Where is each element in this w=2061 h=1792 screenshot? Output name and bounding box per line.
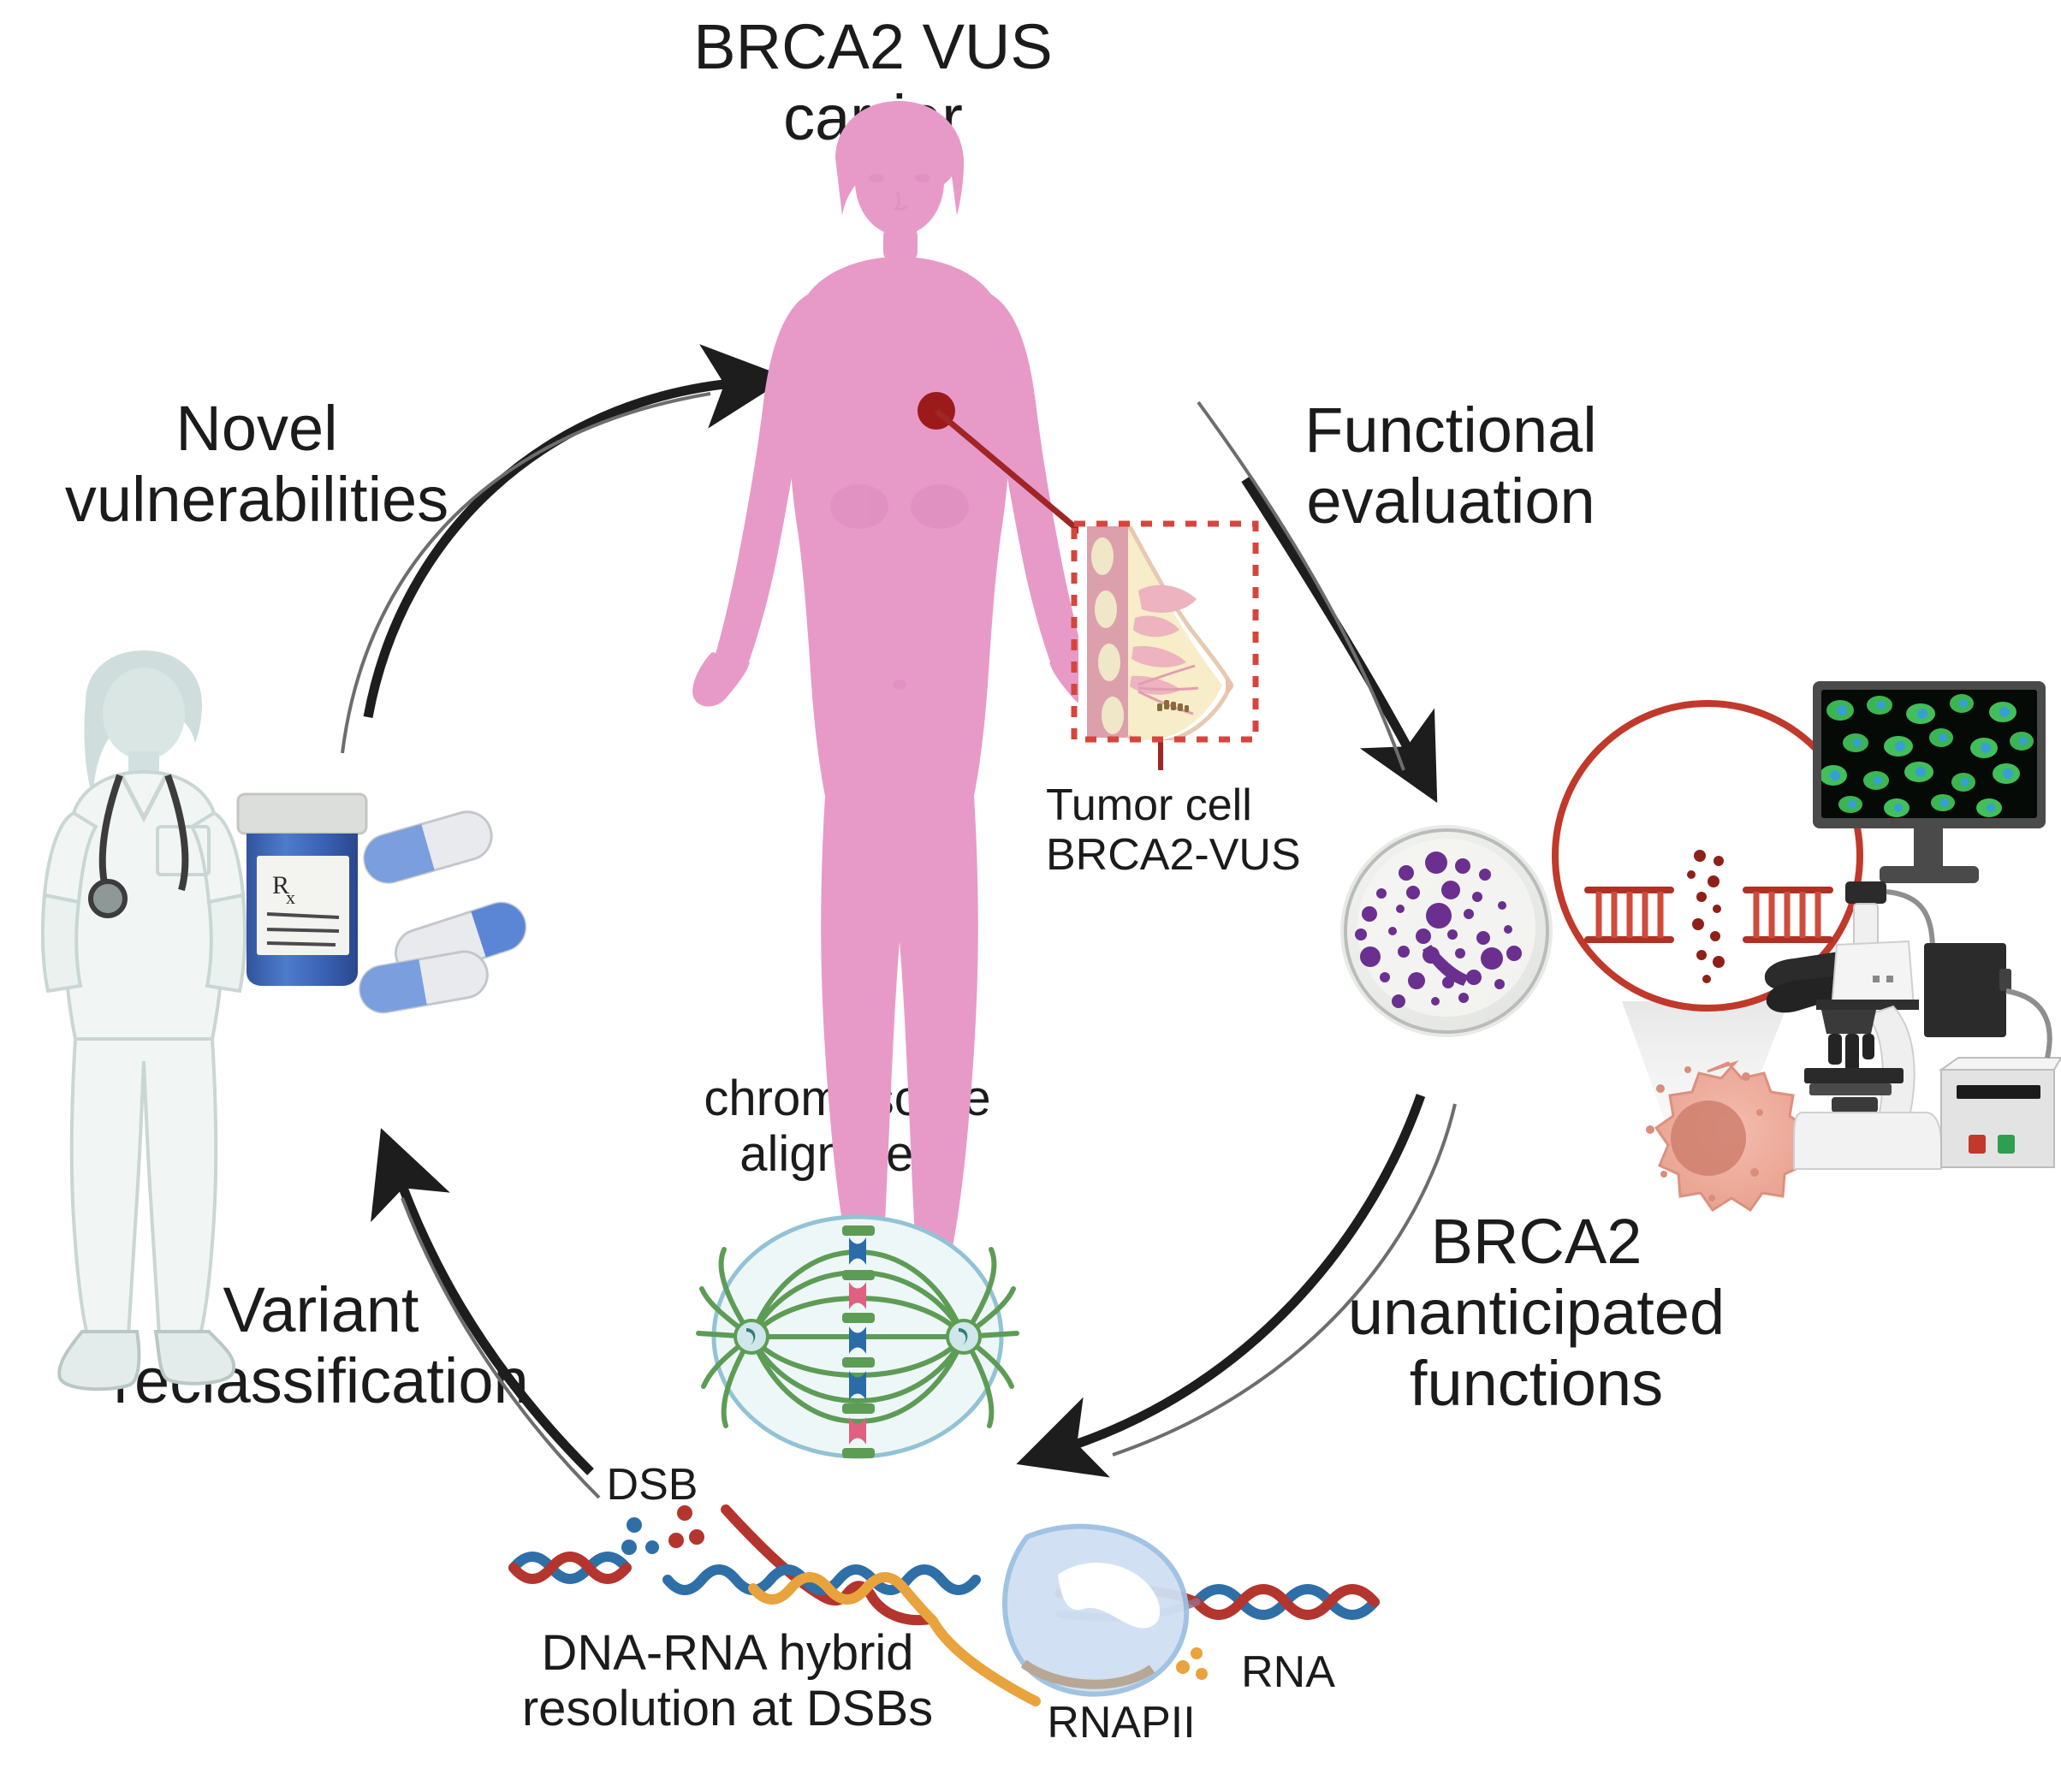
pill-bottle-icon: R x <box>238 794 366 986</box>
rx-label: R <box>272 871 289 899</box>
label-tumor-cell-brca2-vus: Tumor cell BRCA2-VUS <box>1046 780 1337 880</box>
label-brca2-unanticipated-functions: BRCA2 unanticipated functions <box>1310 1207 1763 1420</box>
label-variant-reclassification: Variant reclassification <box>90 1275 552 1417</box>
breast-cross-section-icon <box>1074 522 1258 745</box>
rna-polymerase-icon <box>1005 1527 1186 1694</box>
figure-canvas: BRCA2 VUS carrier Novel vulnerabilities … <box>0 0 2061 1792</box>
page-title-brca2-vus-carrier: BRCA2 VUS carrier <box>650 12 1096 154</box>
dna-break-icon <box>1588 850 1830 983</box>
label-rnapii: RNAPII <box>1023 1698 1220 1747</box>
capsule-pills-icon <box>356 806 531 1016</box>
microscope-icon <box>1765 881 2061 1169</box>
svg-text:x: x <box>286 887 295 908</box>
label-dsb: DSB <box>575 1460 729 1510</box>
fluorescence-monitor-icon <box>1813 681 2046 883</box>
cancer-cell-icon <box>1646 1063 1807 1210</box>
label-dna-rna-hybrid: DNA-RNA hybrid resolution at DSBs <box>445 1626 1010 1737</box>
petri-dish-colonies-icon <box>1340 825 1553 1037</box>
rna-strand-icon <box>1176 1647 1208 1680</box>
tumor-region-dashed-box <box>1074 524 1256 739</box>
chromosome-icon <box>849 1237 866 1445</box>
label-functional-evaluation: Functional evaluation <box>1245 395 1656 537</box>
tumor-leader-line <box>918 392 1161 770</box>
label-dna-damage: DNA damage <box>1573 727 1847 839</box>
mitotic-spindle-icon <box>698 1217 1017 1458</box>
label-novel-vulnerabilities: Novel vulnerabilities <box>17 394 496 536</box>
label-rna: RNA <box>1224 1647 1352 1697</box>
label-chromosome-alignment: chromosome alignment <box>650 1071 1044 1183</box>
